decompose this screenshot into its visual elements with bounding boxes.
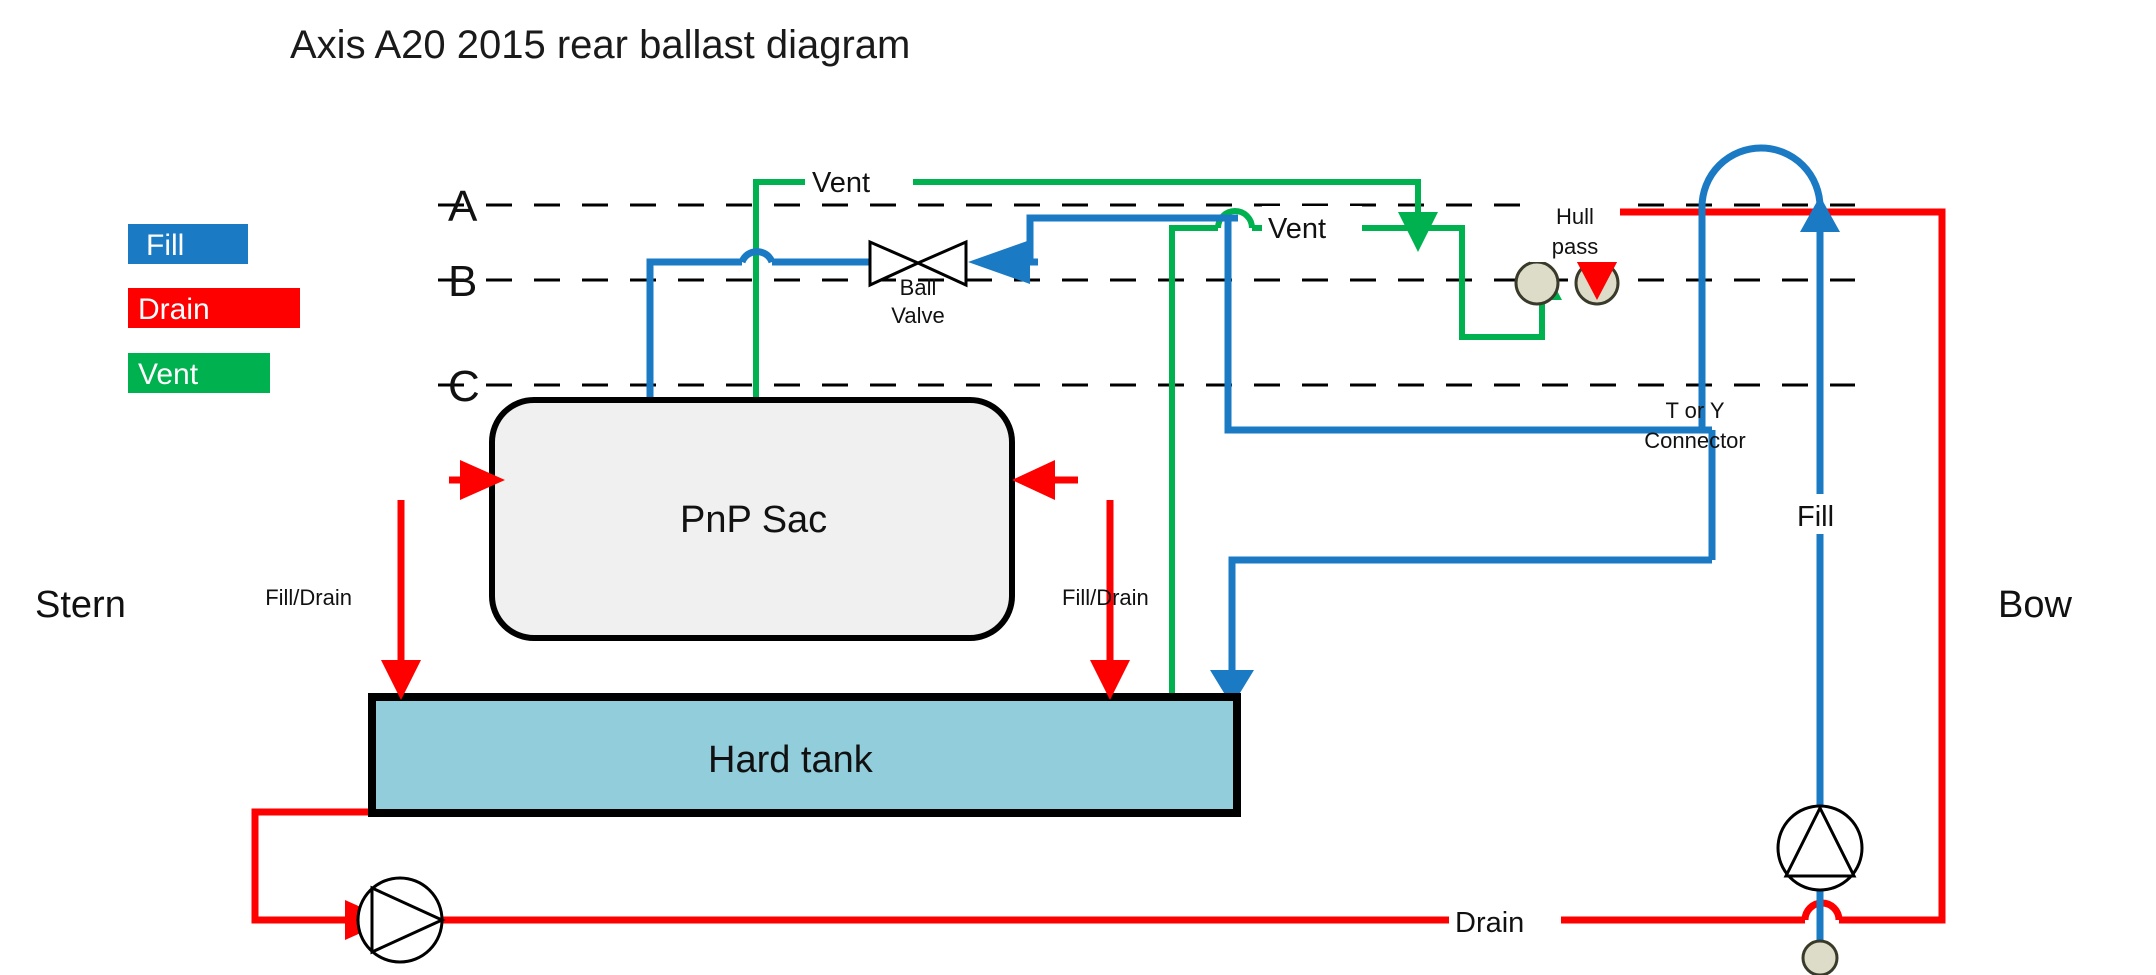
vent-arrow-down	[1398, 212, 1438, 252]
fill-drain-left: Fill/Drain	[265, 460, 505, 700]
hull-pass-label-line1: Hull	[1556, 204, 1594, 229]
reference-label-c: C	[448, 362, 480, 411]
fill-drain-right-label: Fill/Drain	[1062, 585, 1149, 610]
thru-hull-fitting-fill[interactable]	[1803, 941, 1837, 975]
fill-pipe-to-hardtank	[1232, 560, 1712, 670]
fill-pipe-vented-loop	[1702, 148, 1820, 207]
ballast-diagram-svg: Axis A20 2015 rear ballast diagram Fill …	[0, 0, 2156, 975]
reference-label-b: B	[448, 257, 477, 306]
vent-pipe-hardtank-riser	[1172, 228, 1218, 700]
hull-pass-label-line2: pass	[1552, 234, 1598, 259]
fill-drain-left-label: Fill/Drain	[265, 585, 352, 610]
drain-label: Drain	[1455, 907, 1524, 939]
legend-label-fill: Fill	[146, 229, 184, 262]
fill-drain-right: Fill/Drain	[1012, 460, 1149, 700]
hard-tank-label: Hard tank	[708, 739, 874, 781]
ball-valve-label-line1: Ball	[900, 275, 937, 300]
hull-pass-fittings[interactable]: Hull pass	[1516, 200, 1620, 304]
vent-right-label: Vent	[1268, 213, 1326, 245]
vent-left-label: Vent	[812, 167, 870, 199]
fill-label: Fill	[1797, 501, 1834, 533]
drain-pump[interactable]	[358, 878, 442, 962]
connector-label-line1: T or Y	[1665, 398, 1724, 423]
legend-label-drain: Drain	[138, 293, 210, 326]
stern-label: Stern	[35, 584, 126, 626]
fill-drain-right-arrow-to-sac	[1012, 460, 1055, 500]
bow-label: Bow	[1998, 584, 2072, 626]
drain-pipe-bow-riser-to-hullpass	[1597, 212, 1942, 920]
fill-pipe-up-and-east	[1030, 218, 1218, 262]
reference-label-a: A	[448, 182, 478, 231]
hard-tank[interactable]: Hard tank	[372, 697, 1237, 813]
fill-pipe-sac-riser	[650, 262, 742, 400]
drain-pipe-tank-to-pump	[255, 812, 378, 920]
hull-pass-fitting-vent[interactable]	[1516, 262, 1558, 304]
legend: Fill Drain Vent	[128, 224, 300, 393]
ball-valve[interactable]: Ball Valve	[870, 242, 966, 328]
pnp-sac-label: PnP Sac	[680, 499, 827, 541]
fill-pipe-drop-to-connector	[1228, 218, 1712, 430]
fill-pump[interactable]	[1778, 806, 1862, 890]
diagram-canvas: Axis A20 2015 rear ballast diagram Fill …	[0, 0, 2156, 975]
t-or-y-connector: T or Y Connector	[1644, 398, 1746, 453]
legend-label-vent: Vent	[138, 358, 199, 391]
ball-valve-label-line2: Valve	[891, 303, 944, 328]
page-title: Axis A20 2015 rear ballast diagram	[290, 23, 910, 67]
vent-pipe-sac-riser	[756, 182, 880, 400]
fill-arrow-into-ball-valve	[968, 240, 1030, 284]
connector-label-line2: Connector	[1644, 428, 1746, 453]
pnp-sac[interactable]: PnP Sac	[492, 400, 1012, 638]
